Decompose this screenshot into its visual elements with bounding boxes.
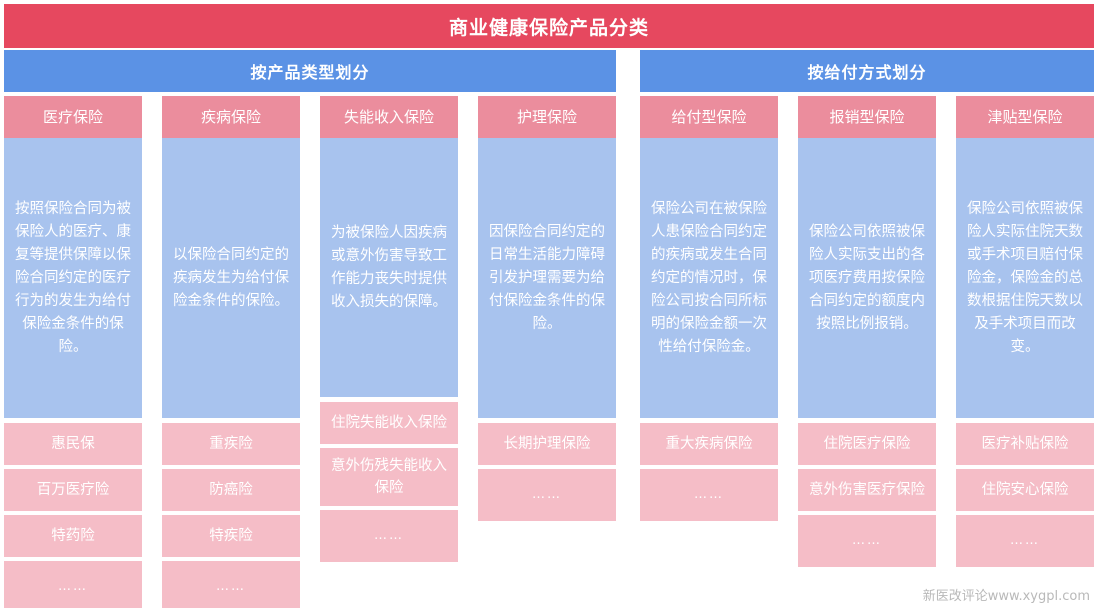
list-item-ellipsis: …… <box>162 561 300 608</box>
list-item: 防癌险 <box>162 469 300 511</box>
category-description: 保险公司依照被保险人实际支出的各项医疗费用按保险合同约定的额度内按照比例报销。 <box>798 138 936 418</box>
category-description: 为被保险人因疾病或意外伤害导致工作能力丧失时提供收入损失的保障。 <box>320 138 458 397</box>
category-header: 医疗保险 <box>4 96 142 138</box>
list-item: 重疾险 <box>162 423 300 465</box>
list-item: 惠民保 <box>4 423 142 465</box>
list-item: 特药险 <box>4 515 142 557</box>
category-column-benefit-payment: 给付型保险 保险公司在被保险人患保险合同约定的疾病或发生合同约定的情况时，保险公… <box>640 96 778 521</box>
category-column-disease: 疾病保险 以保险合同约定的疾病发生为给付保险金条件的保险。 重疾险 防癌险 特疾… <box>162 96 300 608</box>
category-description: 保险公司在被保险人患保险合同约定的疾病或发生合同约定的情况时，保险公司按合同所标… <box>640 138 778 418</box>
list-item: 长期护理保险 <box>478 423 616 465</box>
page-title: 商业健康保险产品分类 <box>4 4 1094 48</box>
list-item: 意外伤残失能收入保险 <box>320 448 458 506</box>
category-item-list: 医疗补贴保险 住院安心保险 …… <box>956 423 1094 567</box>
list-item-ellipsis: …… <box>956 515 1094 567</box>
list-item-ellipsis: …… <box>320 510 458 562</box>
list-item: 医疗补贴保险 <box>956 423 1094 465</box>
list-item: 意外伤害医疗保险 <box>798 469 936 511</box>
list-item: 百万医疗险 <box>4 469 142 511</box>
list-item-ellipsis: …… <box>4 561 142 608</box>
category-description: 因保险合同约定的日常生活能力障碍引发护理需要为给付保险金条件的保险。 <box>478 138 616 418</box>
list-item: 住院失能收入保险 <box>320 402 458 444</box>
category-header: 失能收入保险 <box>320 96 458 138</box>
category-column-allowance: 津贴型保险 保险公司依照被保险人实际住院天数或手术项目赔付保险金，保险金的总数根… <box>956 96 1094 567</box>
diagram-canvas: 商业健康保险产品分类 按产品类型划分 按给付方式划分 医疗保险 按照保险合同为被… <box>0 0 1098 608</box>
list-item: 特疾险 <box>162 515 300 557</box>
category-item-list: 重疾险 防癌险 特疾险 …… <box>162 423 300 608</box>
category-item-list: 住院医疗保险 意外伤害医疗保险 …… <box>798 423 936 567</box>
category-item-list: 住院失能收入保险 意外伤残失能收入保险 …… <box>320 402 458 562</box>
category-item-list: 重大疾病保险 …… <box>640 423 778 521</box>
category-header: 疾病保险 <box>162 96 300 138</box>
category-column-reimbursement: 报销型保险 保险公司依照被保险人实际支出的各项医疗费用按保险合同约定的额度内按照… <box>798 96 936 567</box>
list-item-ellipsis: …… <box>478 469 616 521</box>
category-column-medical: 医疗保险 按照保险合同为被保险人的医疗、康复等提供保障以保险合同约定的医疗行为的… <box>4 96 142 608</box>
list-item: 住院医疗保险 <box>798 423 936 465</box>
category-column-nursing: 护理保险 因保险合同约定的日常生活能力障碍引发护理需要为给付保险金条件的保险。 … <box>478 96 616 521</box>
group-header-payment-method: 按给付方式划分 <box>640 50 1094 92</box>
column-container: 医疗保险 按照保险合同为被保险人的医疗、康复等提供保障以保险合同约定的医疗行为的… <box>0 96 1098 608</box>
category-description: 以保险合同约定的疾病发生为给付保险金条件的保险。 <box>162 138 300 418</box>
category-header: 津贴型保险 <box>956 96 1094 138</box>
category-description: 按照保险合同为被保险人的医疗、康复等提供保障以保险合同约定的医疗行为的发生为给付… <box>4 138 142 418</box>
category-description: 保险公司依照被保险人实际住院天数或手术项目赔付保险金，保险金的总数根据住院天数以… <box>956 138 1094 418</box>
list-item: 重大疾病保险 <box>640 423 778 465</box>
watermark: 新医改评论www.xygpl.com <box>923 585 1090 604</box>
category-column-disability-income: 失能收入保险 为被保险人因疾病或意外伤害导致工作能力丧失时提供收入损失的保障。 … <box>320 96 458 562</box>
category-item-list: 惠民保 百万医疗险 特药险 …… <box>4 423 142 608</box>
list-item: 住院安心保险 <box>956 469 1094 511</box>
category-item-list: 长期护理保险 …… <box>478 423 616 521</box>
list-item-ellipsis: …… <box>798 515 936 567</box>
category-header: 护理保险 <box>478 96 616 138</box>
list-item-ellipsis: …… <box>640 469 778 521</box>
category-header: 给付型保险 <box>640 96 778 138</box>
category-header: 报销型保险 <box>798 96 936 138</box>
group-header-product-type: 按产品类型划分 <box>4 50 616 92</box>
